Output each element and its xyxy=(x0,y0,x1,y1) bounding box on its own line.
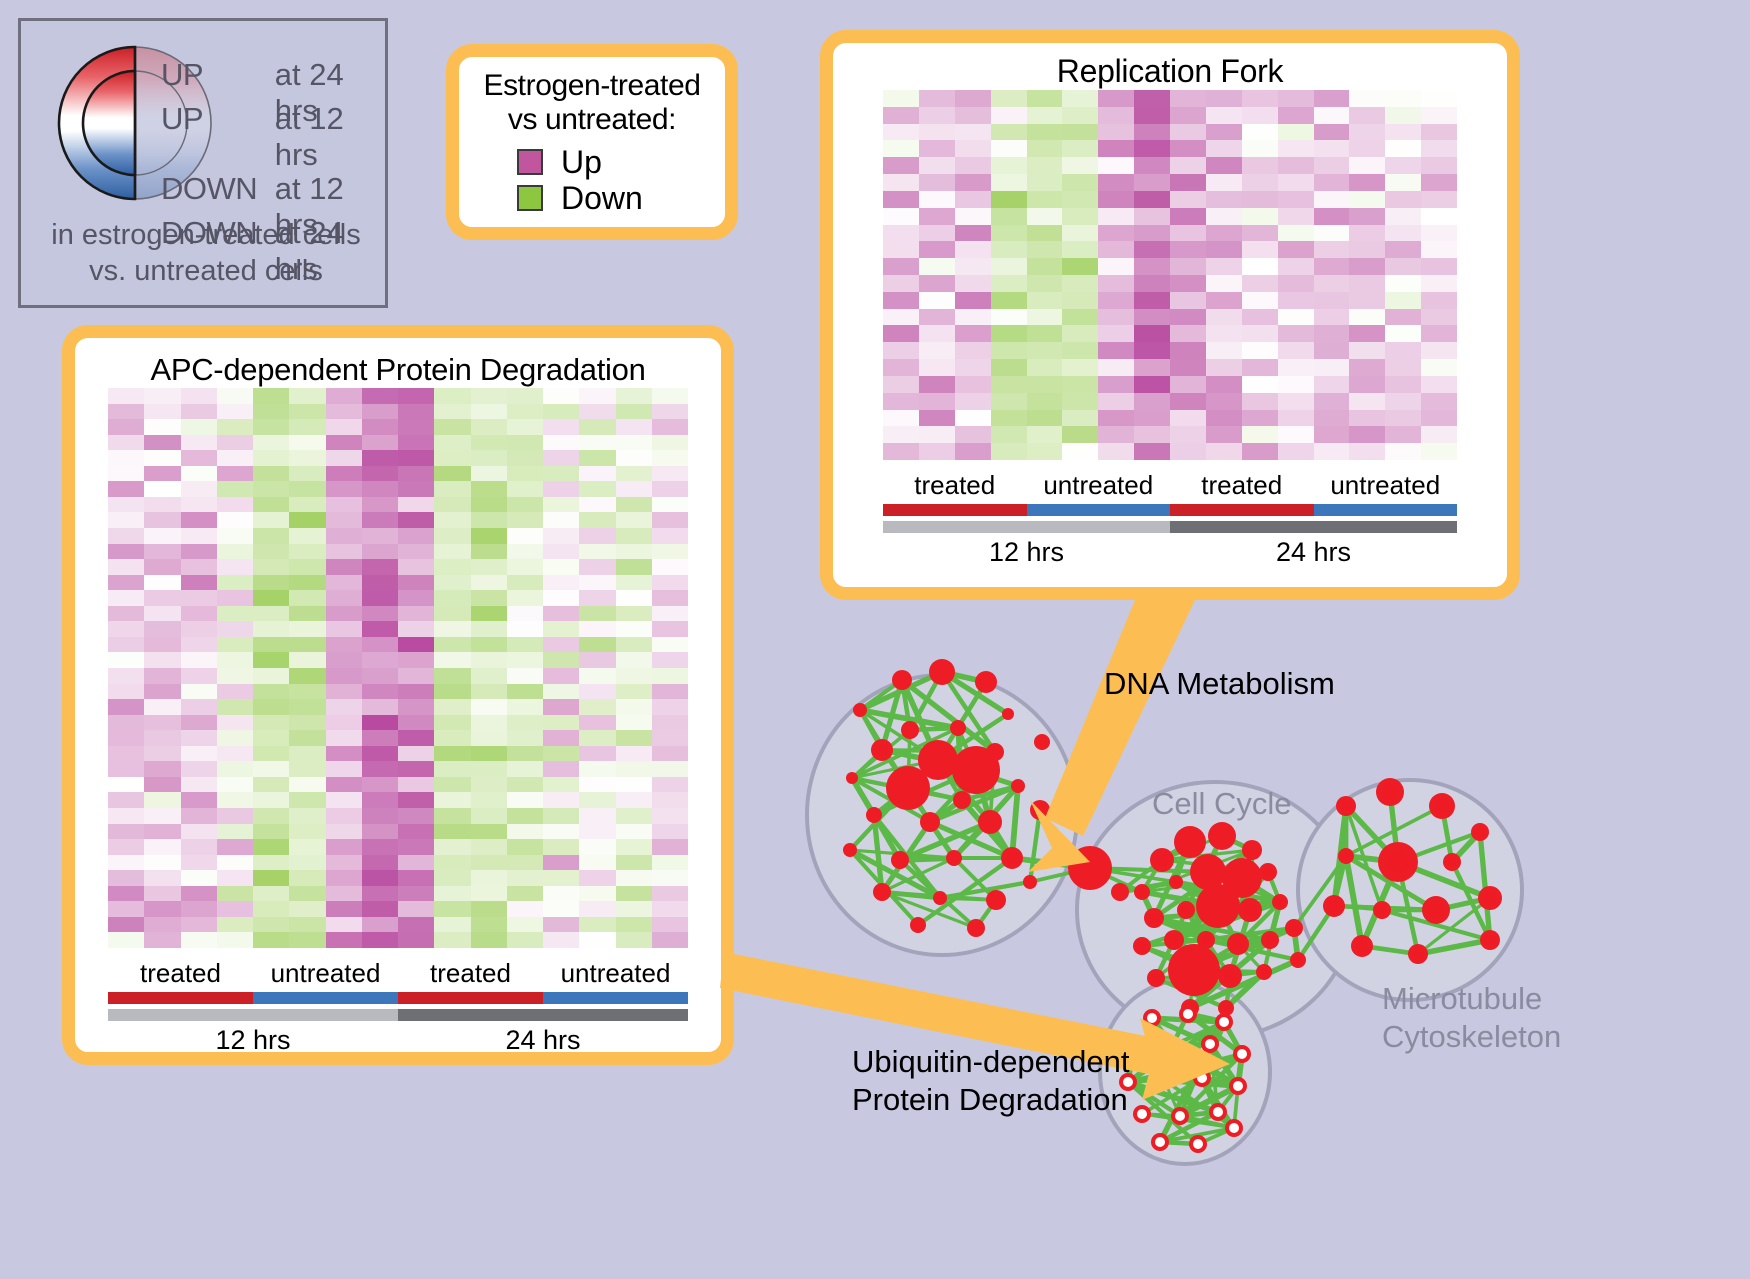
heatmap-cell xyxy=(1170,376,1206,393)
heatmap-cell xyxy=(398,590,434,606)
network-node-core xyxy=(1382,784,1397,799)
heatmap-cell xyxy=(144,761,180,777)
heatmap-cell xyxy=(579,497,615,513)
heatmap-cell xyxy=(1314,309,1350,326)
heatmap-cell xyxy=(507,404,543,420)
network-node-core xyxy=(1223,969,1236,982)
heatmap-cell xyxy=(181,652,217,668)
heatmap-cell xyxy=(1314,90,1350,107)
time-label: 12 hrs xyxy=(108,1025,398,1056)
heatmap-cell xyxy=(991,443,1027,460)
network-node xyxy=(986,890,1006,910)
heatmap-cell xyxy=(1206,443,1242,460)
heatmap-cell xyxy=(181,528,217,544)
network-node-core xyxy=(1167,1041,1177,1051)
heatmap-cell xyxy=(253,621,289,637)
heatmap-cell xyxy=(181,466,217,482)
heatmap-cell xyxy=(434,761,470,777)
heatmap-cell xyxy=(543,652,579,668)
heatmap-cell xyxy=(1242,225,1278,242)
heatmap-cell xyxy=(579,715,615,731)
heatmap-cell xyxy=(1027,174,1063,191)
heatmap-cell xyxy=(507,606,543,622)
heatmap-cell xyxy=(398,528,434,544)
heatmap-cell xyxy=(652,855,688,871)
heatmap-cell xyxy=(543,621,579,637)
heatmap-cell xyxy=(543,637,579,653)
heatmap-cell xyxy=(507,481,543,497)
heatmap-cell xyxy=(326,575,362,591)
heatmap-cell xyxy=(434,792,470,808)
heatmap-cell xyxy=(1314,325,1350,342)
network-node-core xyxy=(1149,913,1160,924)
heatmap-cell xyxy=(543,715,579,731)
heatmap-cell xyxy=(1170,241,1206,258)
heatmap-cell xyxy=(579,450,615,466)
heatmap-cell xyxy=(652,388,688,404)
heatmap-cell xyxy=(362,450,398,466)
heatmap-cell xyxy=(955,208,991,225)
heatmap-cell xyxy=(543,419,579,435)
network-node xyxy=(846,772,858,784)
heatmap-cell xyxy=(507,559,543,575)
color-key-row: UP at 12 hrs xyxy=(161,101,391,145)
network-node-core xyxy=(1342,852,1351,861)
heatmap-cell xyxy=(1170,191,1206,208)
heatmap-cell xyxy=(362,777,398,793)
heatmap-cell xyxy=(144,746,180,762)
heatmap-cell xyxy=(108,699,144,715)
heatmap-cell xyxy=(507,730,543,746)
heatmap-cell xyxy=(108,761,144,777)
network-node xyxy=(946,850,962,866)
heatmap-cell xyxy=(1134,191,1170,208)
heatmap-cell xyxy=(144,512,180,528)
heatmap-cell xyxy=(471,435,507,451)
heatmap-cell xyxy=(398,481,434,497)
heatmap-cell xyxy=(616,544,652,560)
heatmap-cell xyxy=(919,124,955,141)
heatmap-cell xyxy=(471,668,507,684)
heatmap-cell xyxy=(253,932,289,948)
heatmap-cell xyxy=(1385,124,1421,141)
heatmap-cell xyxy=(253,839,289,855)
heatmap-cell xyxy=(181,435,217,451)
legend-label-up: Up xyxy=(561,144,602,181)
heatmap-cell xyxy=(1027,275,1063,292)
heatmap-cell xyxy=(883,309,919,326)
network-node xyxy=(910,917,926,933)
up-swatch-icon xyxy=(517,149,543,175)
network-node-core xyxy=(1138,888,1147,897)
heatmap-cell xyxy=(108,637,144,653)
heatmap-cell xyxy=(1134,359,1170,376)
heatmap-cell xyxy=(652,730,688,746)
heatmap-cell xyxy=(181,668,217,684)
heatmap-cell xyxy=(1062,107,1098,124)
heatmap-cell xyxy=(471,637,507,653)
heatmap-cell xyxy=(289,699,325,715)
heatmap-cell xyxy=(362,404,398,420)
heatmap-cell xyxy=(1027,426,1063,443)
heatmap-cell xyxy=(289,419,325,435)
heatmap-cell xyxy=(144,481,180,497)
heatmap-cell xyxy=(326,481,362,497)
heatmap-cell xyxy=(253,917,289,933)
heatmap-cell xyxy=(955,342,991,359)
heatmap-cell xyxy=(253,901,289,917)
heatmap-cell xyxy=(579,528,615,544)
time-label: 24 hrs xyxy=(1170,537,1457,568)
heatmap-cell xyxy=(362,481,398,497)
heatmap-cell xyxy=(108,404,144,420)
heatmap-cell xyxy=(181,637,217,653)
heatmap-cell xyxy=(579,388,615,404)
heatmap-cell xyxy=(1062,393,1098,410)
heatmap-cell xyxy=(616,606,652,622)
heatmap-cell xyxy=(579,637,615,653)
heatmap-cell xyxy=(471,699,507,715)
heatmap-cell xyxy=(1098,140,1134,157)
heatmap-cell xyxy=(883,90,919,107)
heatmap-cell xyxy=(217,575,253,591)
heatmap-cell xyxy=(362,855,398,871)
network-node-core xyxy=(1341,801,1352,812)
heatmap-cell xyxy=(991,410,1027,427)
heatmap-cell xyxy=(181,684,217,700)
heatmap-cell xyxy=(1062,376,1098,393)
heatmap-cell xyxy=(326,544,362,560)
heatmap-cell xyxy=(507,419,543,435)
heatmap-cell xyxy=(398,404,434,420)
heatmap-cell xyxy=(434,730,470,746)
heatmap-cell xyxy=(1098,426,1134,443)
heatmap-cell xyxy=(1349,292,1385,309)
heatmap-cell xyxy=(1134,376,1170,393)
heatmap-cell xyxy=(108,559,144,575)
heatmap-cell xyxy=(1098,107,1134,124)
heatmap-cell xyxy=(1062,174,1098,191)
group-label: untreated xyxy=(543,958,688,989)
heatmap-cell xyxy=(253,512,289,528)
heatmap-cell xyxy=(289,684,325,700)
heatmap-cell xyxy=(181,792,217,808)
heatmap-cell xyxy=(181,404,217,420)
heatmap-cell xyxy=(362,559,398,575)
network-node xyxy=(1174,826,1206,858)
bar-untreated xyxy=(1027,504,1171,516)
heatmap-cell xyxy=(616,652,652,668)
network-node-core xyxy=(1475,827,1485,837)
heatmap-cell xyxy=(326,855,362,871)
heatmap-cell xyxy=(144,684,180,700)
color-key-box: UP at 24 hrs UP at 12 hrs DOWN at 12 hrs… xyxy=(18,18,388,308)
heatmap-cell xyxy=(144,932,180,948)
heatmap-cell xyxy=(108,435,144,451)
bar-untreated xyxy=(253,992,398,1004)
heatmap-cell xyxy=(181,575,217,591)
replication-fork-panel: Replication Fork treated untreated treat… xyxy=(820,30,1520,600)
heatmap-cell xyxy=(471,450,507,466)
heatmap-cell xyxy=(883,241,919,258)
heatmap-cell xyxy=(471,621,507,637)
group-label: treated xyxy=(1170,470,1314,501)
heatmap-cell xyxy=(434,824,470,840)
heatmap-cell xyxy=(955,410,991,427)
heatmap-cell xyxy=(253,544,289,560)
heatmap-cell xyxy=(919,157,955,174)
heatmap-cell xyxy=(434,497,470,513)
heatmap-cell xyxy=(326,824,362,840)
heatmap-cell xyxy=(543,777,579,793)
heatmap-cell xyxy=(1242,90,1278,107)
heatmap-cell xyxy=(289,497,325,513)
heatmap-cell xyxy=(326,497,362,513)
heatmap-cell xyxy=(919,359,955,376)
down-swatch-icon xyxy=(517,185,543,211)
heatmap-cell xyxy=(1206,325,1242,342)
heatmap-cell xyxy=(108,824,144,840)
label-microtubule-line1: Microtubule xyxy=(1382,980,1542,1017)
heatmap-cell xyxy=(398,746,434,762)
heatmap-cell xyxy=(652,901,688,917)
heatmap-cell xyxy=(955,325,991,342)
heatmap-cell xyxy=(289,466,325,482)
heatmap-cell xyxy=(883,292,919,309)
heatmap-cell xyxy=(616,668,652,684)
heatmap-cell xyxy=(144,808,180,824)
heatmap-cell xyxy=(1242,292,1278,309)
heatmap-cell xyxy=(543,528,579,544)
heatmap-cell xyxy=(108,544,144,560)
heatmap-cell xyxy=(1134,208,1170,225)
heatmap-cell xyxy=(471,870,507,886)
heatmap-cell xyxy=(1098,191,1134,208)
heatmap-cell xyxy=(1027,393,1063,410)
heatmap-cell xyxy=(507,855,543,871)
heatmap-cell xyxy=(543,870,579,886)
heatmap-cell xyxy=(217,528,253,544)
heatmap-cell xyxy=(108,590,144,606)
heatmap-cell xyxy=(883,258,919,275)
network-node-core xyxy=(1483,891,1496,904)
heatmap-cell xyxy=(326,621,362,637)
heatmap-cell xyxy=(1349,325,1385,342)
group-labels-replication-fork: treated untreated treated untreated xyxy=(883,470,1457,501)
heatmap-cell xyxy=(543,761,579,777)
heatmap-cell xyxy=(616,808,652,824)
heatmap-cell xyxy=(1134,124,1170,141)
heatmap-cell xyxy=(1421,325,1457,342)
heatmap-cell xyxy=(217,512,253,528)
heatmap-cell xyxy=(471,746,507,762)
heatmap-cell xyxy=(919,191,955,208)
heatmap-cell xyxy=(1421,426,1457,443)
heatmap-cell xyxy=(1278,309,1314,326)
heatmap-cell xyxy=(362,575,398,591)
heatmap-cell xyxy=(652,668,688,684)
heatmap-cell xyxy=(108,792,144,808)
heatmap-cell xyxy=(362,684,398,700)
heatmap-cell xyxy=(955,309,991,326)
heatmap-cell xyxy=(1278,140,1314,157)
heatmap-cell xyxy=(253,746,289,762)
heatmap-cell xyxy=(217,637,253,653)
heatmap-cell xyxy=(1349,140,1385,157)
heatmap-cell xyxy=(507,652,543,668)
heatmap-cell xyxy=(289,901,325,917)
heatmap-cell xyxy=(326,777,362,793)
heatmap-cell xyxy=(1098,225,1134,242)
heatmap-cell xyxy=(362,637,398,653)
heatmap-cell xyxy=(507,901,543,917)
heatmap-cell xyxy=(1170,309,1206,326)
heatmap-cell xyxy=(326,450,362,466)
network-node-core xyxy=(1237,1049,1247,1059)
heatmap-cell xyxy=(144,528,180,544)
heatmap-cell xyxy=(1134,157,1170,174)
heatmap-cell xyxy=(1206,140,1242,157)
heatmap-cell xyxy=(991,140,1027,157)
bar-untreated xyxy=(1314,504,1458,516)
heatmap-cell xyxy=(434,777,470,793)
heatmap-cell xyxy=(1134,309,1170,326)
heatmap-cell xyxy=(326,932,362,948)
heatmap-cell xyxy=(253,435,289,451)
bar-12hrs xyxy=(108,1009,398,1021)
heatmap-cell xyxy=(289,590,325,606)
heatmap-cell xyxy=(579,917,615,933)
heatmap-cell xyxy=(181,855,217,871)
heatmap-cell xyxy=(398,559,434,575)
heatmap-cell xyxy=(326,466,362,482)
color-key-row: UP at 24 hrs xyxy=(161,57,391,101)
heatmap-cell xyxy=(1385,191,1421,208)
heatmap-cell xyxy=(616,855,652,871)
heatmap-cell xyxy=(507,699,543,715)
heatmap-cell xyxy=(1206,107,1242,124)
network-node xyxy=(853,703,867,717)
heatmap-cell xyxy=(919,410,955,427)
heatmap-cell xyxy=(1349,124,1385,141)
group-labels-apc: treated untreated treated untreated xyxy=(108,958,688,989)
heatmap-cell xyxy=(1170,174,1206,191)
heatmap-cell xyxy=(181,839,217,855)
heatmap-cell xyxy=(955,225,991,242)
heatmap-cell xyxy=(1206,208,1242,225)
heatmap-cell xyxy=(1349,90,1385,107)
heatmap-apc xyxy=(108,388,688,948)
heatmap-cell xyxy=(507,917,543,933)
heatmap-cell xyxy=(471,777,507,793)
heatmap-cell xyxy=(1385,393,1421,410)
heatmap-cell xyxy=(507,590,543,606)
heatmap-cell xyxy=(883,208,919,225)
heatmap-cell xyxy=(1385,258,1421,275)
heatmap-cell xyxy=(1206,157,1242,174)
heatmap-cell xyxy=(253,870,289,886)
heatmap-cell xyxy=(991,107,1027,124)
heatmap-cell xyxy=(434,668,470,684)
heatmap-cell xyxy=(616,388,652,404)
heatmap-cell xyxy=(1385,443,1421,460)
heatmap-cell xyxy=(1314,208,1350,225)
heatmap-cell xyxy=(398,932,434,948)
heatmap-cell xyxy=(1314,191,1350,208)
network-node xyxy=(950,720,966,736)
heatmap-cell xyxy=(471,652,507,668)
heatmap-cell xyxy=(471,606,507,622)
heatmap-cell xyxy=(144,450,180,466)
network-node-core xyxy=(876,744,888,756)
heatmap-cell xyxy=(434,388,470,404)
color-key-footer-line2: vs. untreated cells xyxy=(21,253,391,289)
heatmap-cell xyxy=(398,699,434,715)
heatmap-cell xyxy=(108,730,144,746)
heatmap-cell xyxy=(1349,342,1385,359)
heatmap-cell xyxy=(883,225,919,242)
heatmap-cell xyxy=(181,481,217,497)
heatmap-cell xyxy=(1349,241,1385,258)
heatmap-cell xyxy=(217,699,253,715)
heatmap-cell xyxy=(471,419,507,435)
heatmap-cell xyxy=(217,777,253,793)
heatmap-cell xyxy=(434,590,470,606)
heatmap-cell xyxy=(144,559,180,575)
heatmap-cell xyxy=(1170,140,1206,157)
heatmap-cell xyxy=(1134,225,1170,242)
heatmap-cell xyxy=(326,528,362,544)
heatmap-cell xyxy=(253,575,289,591)
heatmap-cell xyxy=(1027,90,1063,107)
heatmap-cell xyxy=(108,715,144,731)
heatmap-cell xyxy=(616,730,652,746)
heatmap-cell xyxy=(543,606,579,622)
network-node xyxy=(1168,944,1220,996)
heatmap-cell xyxy=(883,426,919,443)
bar-treated xyxy=(398,992,543,1004)
heatmap-cell xyxy=(955,157,991,174)
heatmap-cell xyxy=(919,140,955,157)
heatmap-cell xyxy=(579,606,615,622)
network-node-core xyxy=(1006,852,1018,864)
heatmap-cell xyxy=(955,376,991,393)
heatmap-cell xyxy=(652,792,688,808)
heatmap-cell xyxy=(289,746,325,762)
heatmap-cell xyxy=(1385,292,1421,309)
network-node xyxy=(1242,840,1262,860)
heatmap-cell xyxy=(1278,208,1314,225)
heatmap-cell xyxy=(652,606,688,622)
heatmap-cell xyxy=(1027,241,1063,258)
label-microtubule-line2: Cytoskeleton xyxy=(1382,1018,1561,1055)
heatmap-cell xyxy=(289,528,325,544)
heatmap-cell xyxy=(1170,107,1206,124)
heatmap-cell xyxy=(471,404,507,420)
bar-treated xyxy=(883,504,1027,516)
heatmap-cell xyxy=(955,191,991,208)
heatmap-cell xyxy=(1421,342,1457,359)
heatmap-cell xyxy=(1421,174,1457,191)
heatmap-cell xyxy=(326,746,362,762)
color-key-row: DOWN at 12 hrs xyxy=(161,171,391,215)
heatmap-cell xyxy=(1206,90,1242,107)
heatmap-cell xyxy=(652,917,688,933)
heatmap-cell xyxy=(652,419,688,435)
heatmap-cell xyxy=(1421,124,1457,141)
heatmap-cell xyxy=(507,621,543,637)
heatmap-cell xyxy=(253,761,289,777)
